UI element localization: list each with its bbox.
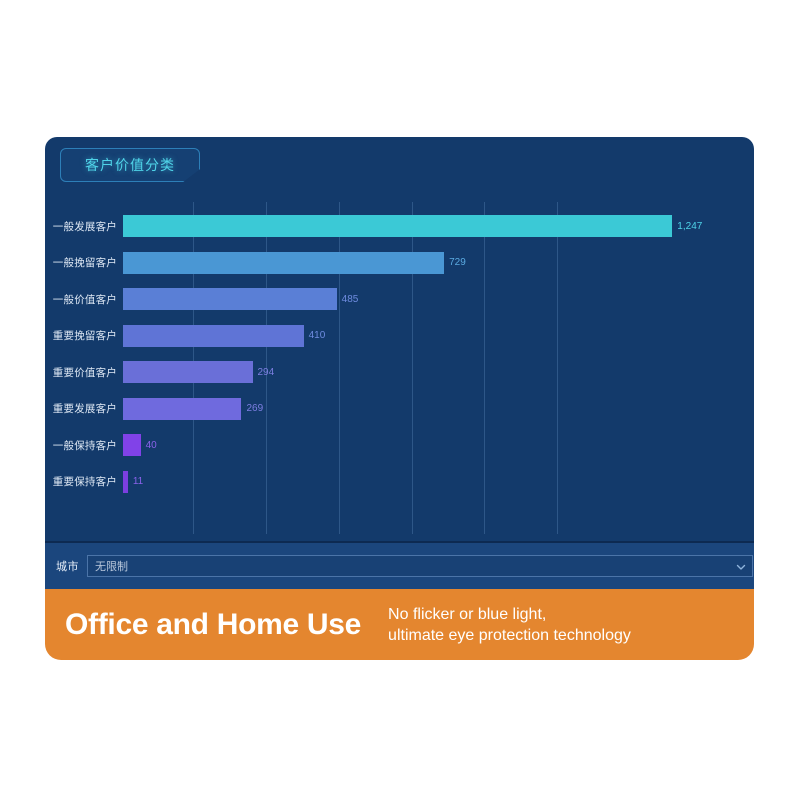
bar-category-label: 重要挽留客户 [45,328,117,343]
bar-track: 1,247 [123,215,702,237]
page-title: 客户价值分类 [85,155,175,175]
city-select-value: 无限制 [95,558,128,574]
bar-track: 410 [123,325,325,347]
filter-bar: 城市 无限制 [45,541,754,589]
bar-row[interactable]: 一般保持客户40 [45,427,754,463]
bar-chart: 一般发展客户1,247一般挽留客户729一般价值客户485重要挽留客户410重要… [45,200,754,540]
panel-title-badge: 客户价值分类 [60,148,200,182]
bar-row[interactable]: 重要发展客户269 [45,391,754,427]
chevron-down-icon[interactable] [735,560,747,572]
bar-row[interactable]: 一般价值客户485 [45,281,754,317]
bar-rect[interactable] [123,288,337,310]
bar-track: 40 [123,434,157,456]
bar-list: 一般发展客户1,247一般挽留客户729一般价值客户485重要挽留客户410重要… [45,200,754,540]
bar-rect[interactable] [123,215,672,237]
bar-row[interactable]: 重要价值客户294 [45,354,754,390]
bar-rect[interactable] [123,252,444,274]
bar-row[interactable]: 重要保持客户11 [45,464,754,500]
bar-value-label: 485 [342,294,359,305]
city-select[interactable]: 无限制 [87,555,753,577]
bar-category-label: 重要价值客户 [45,365,117,380]
bar-category-label: 一般发展客户 [45,219,117,234]
bar-value-label: 729 [449,257,466,268]
bar-value-label: 410 [309,330,326,341]
bar-rect[interactable] [123,398,241,420]
dashboard-card: 客户价值分类 一般发展客户1,247一般挽留客户729一般价值客户485重要挽留… [45,137,754,541]
bar-value-label: 269 [246,403,263,414]
promo-subtext-line-1: No flicker or blue light, [388,604,631,625]
promo-headline: Office and Home Use [65,608,361,642]
promo-subtext-line-2: ultimate eye protection technology [388,625,631,646]
bar-track: 269 [123,398,263,420]
bar-track: 729 [123,252,466,274]
bar-category-label: 重要发展客户 [45,401,117,416]
bar-track: 11 [123,471,143,493]
bar-rect[interactable] [123,325,304,347]
bar-category-label: 一般保持客户 [45,438,117,453]
bar-track: 294 [123,361,274,383]
bar-row[interactable]: 一般挽留客户729 [45,245,754,281]
bar-track: 485 [123,288,358,310]
bar-value-label: 11 [133,476,143,487]
bar-rect[interactable] [123,361,253,383]
city-filter-label: 城市 [56,558,79,574]
promo-banner: Office and Home Use No flicker or blue l… [45,589,754,660]
bar-category-label: 一般价值客户 [45,292,117,307]
bar-value-label: 40 [146,440,157,451]
promo-subtext: No flicker or blue light, ultimate eye p… [388,604,631,646]
bar-rect[interactable] [123,471,128,493]
bar-category-label: 重要保持客户 [45,474,117,489]
bar-value-label: 1,247 [677,221,702,232]
bar-row[interactable]: 重要挽留客户410 [45,318,754,354]
bar-rect[interactable] [123,434,141,456]
bar-value-label: 294 [258,367,275,378]
bar-category-label: 一般挽留客户 [45,255,117,270]
bar-row[interactable]: 一般发展客户1,247 [45,208,754,244]
